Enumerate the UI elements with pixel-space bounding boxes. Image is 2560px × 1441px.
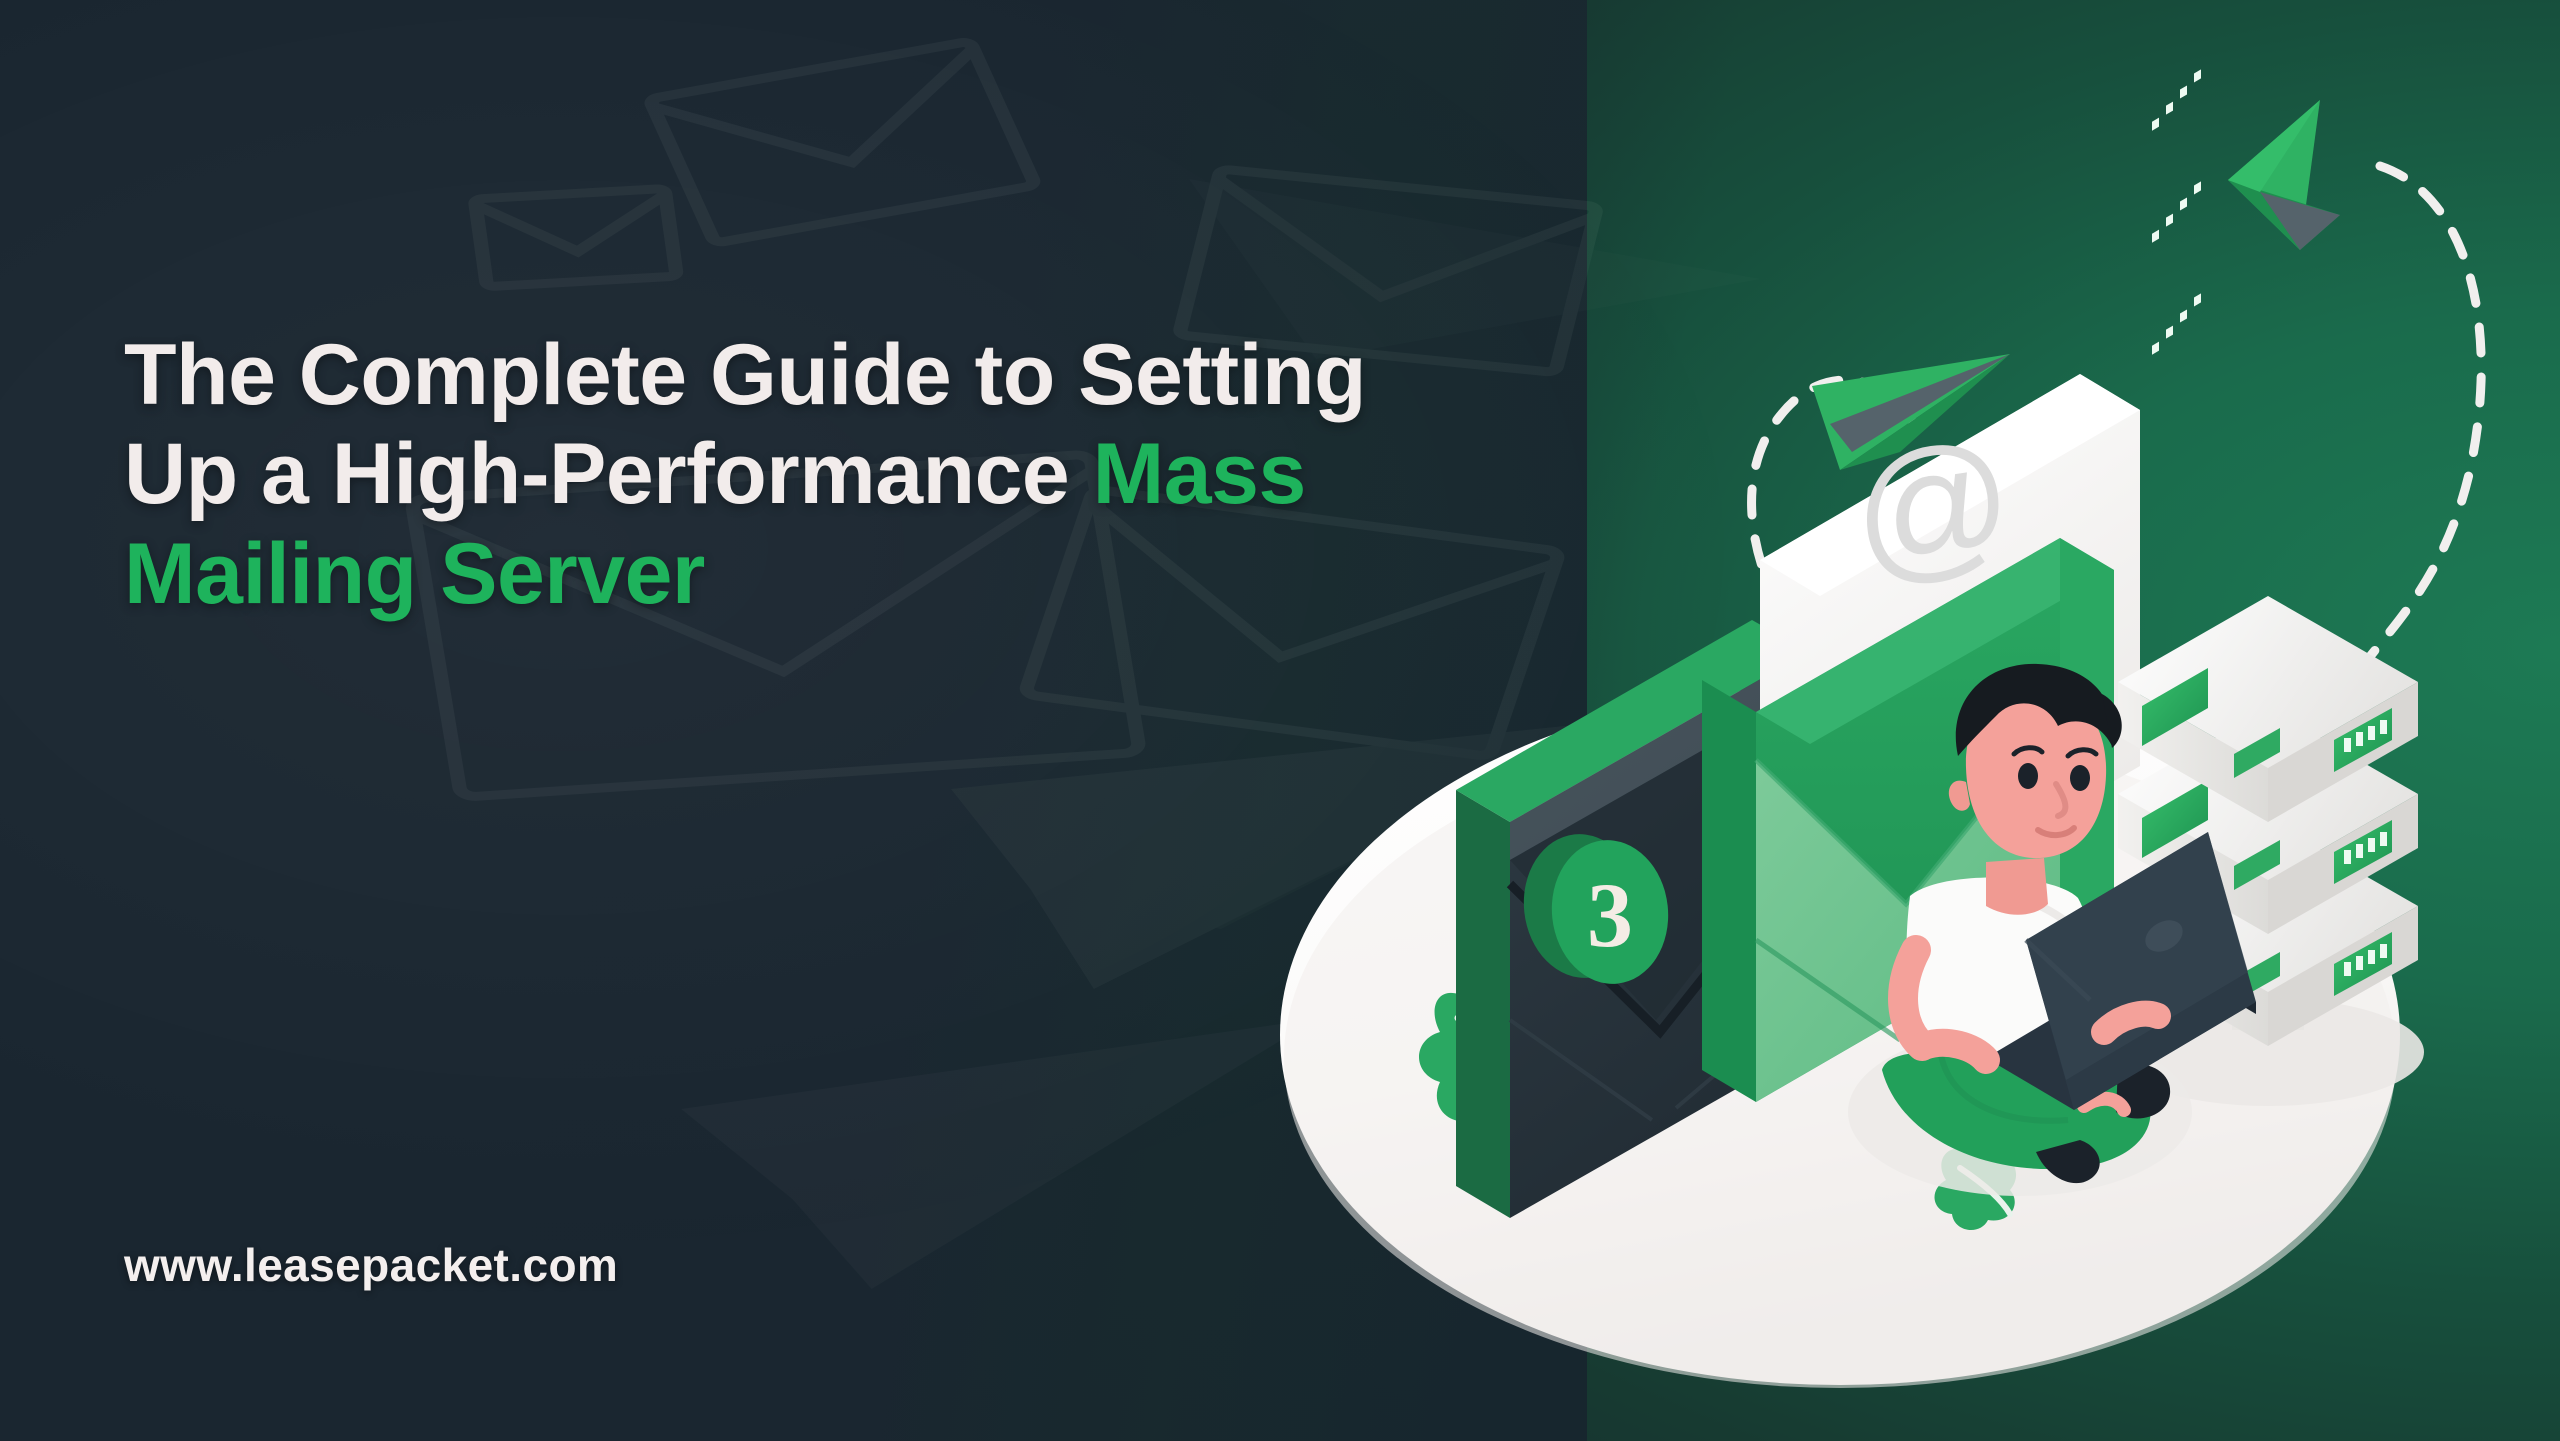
person-eye-right	[2070, 765, 2090, 791]
site-url: www.leasepacket.com	[124, 1238, 618, 1292]
dashed-arc-right	[2340, 166, 2481, 700]
headline-line-3-accent: Mailing Server	[124, 526, 705, 622]
person-hand-left	[1924, 1043, 1986, 1060]
banner-canvas: The Complete Guide to Setting Up a High-…	[0, 0, 2560, 1441]
person-eye-left	[2018, 763, 2038, 789]
paper-plane-top-icon	[2228, 100, 2340, 250]
email-illustration: 3 @	[1140, 0, 2560, 1441]
unread-badge-count: 3	[1587, 864, 1633, 966]
headline-line-2-plain: Up a High-Performance	[124, 426, 1093, 522]
